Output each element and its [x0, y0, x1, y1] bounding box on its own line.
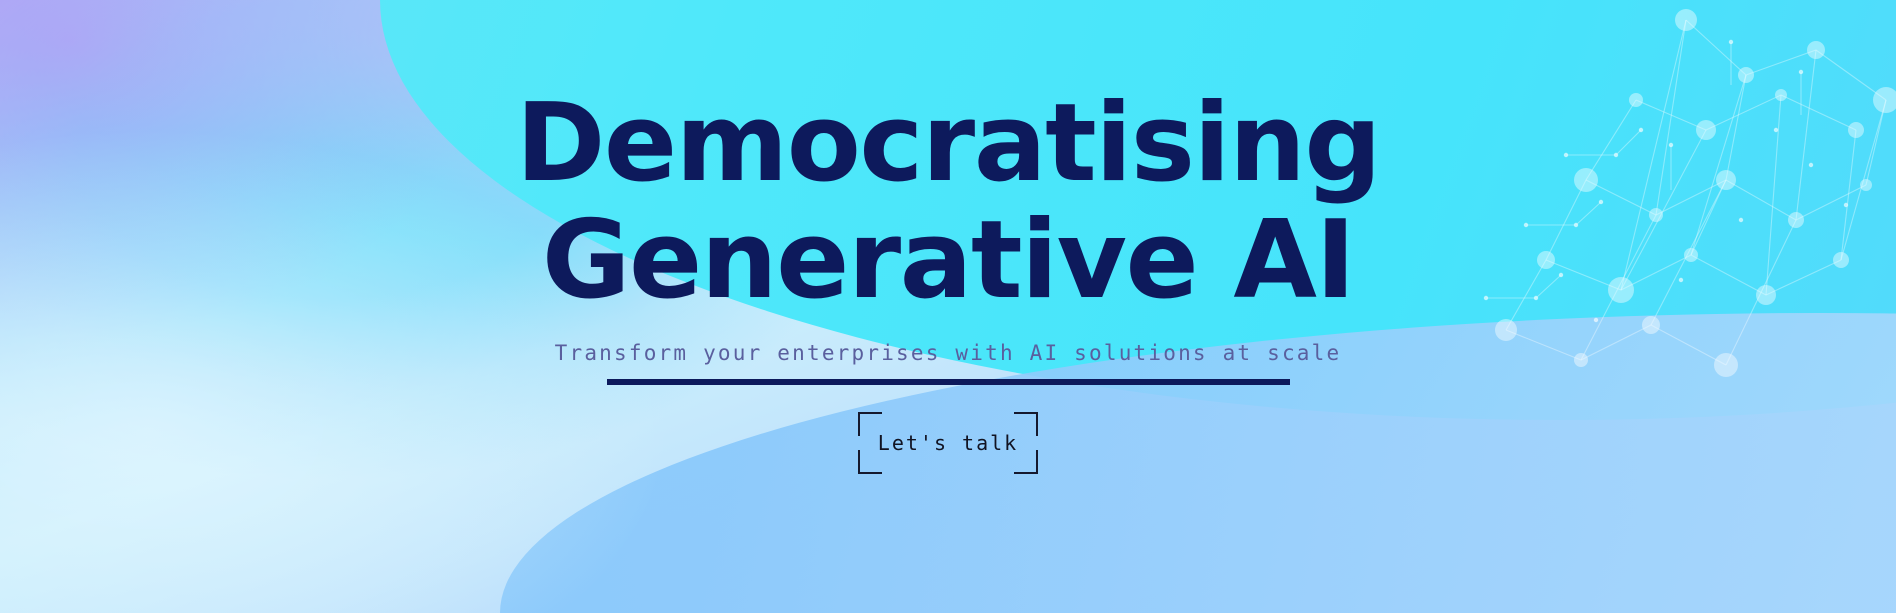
lets-talk-button-label: Let's talk [878, 431, 1018, 455]
hero-content: Democratising Generative AI Transform yo… [0, 0, 1896, 613]
bracket-bottom-right-icon [1014, 450, 1038, 474]
hero-tagline: Transform your enterprises with AI solut… [555, 341, 1342, 365]
bracket-bottom-left-icon [858, 450, 882, 474]
bracket-top-right-icon [1014, 412, 1038, 436]
page-title: Democratising Generative AI [516, 86, 1380, 319]
headline-line-2: Generative AI [516, 203, 1380, 320]
lets-talk-button[interactable]: Let's talk [858, 412, 1038, 474]
hero-banner: Democratising Generative AI Transform yo… [0, 0, 1896, 613]
bracket-top-left-icon [858, 412, 882, 436]
title-underline-rule [607, 379, 1290, 385]
headline-line-1: Democratising [516, 86, 1380, 203]
